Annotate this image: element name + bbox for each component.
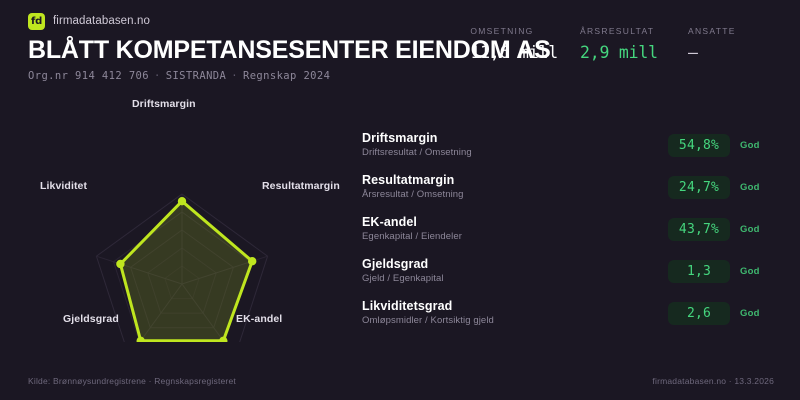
radar-point-driftsmargin bbox=[178, 197, 186, 205]
metric-text: EK-andel Egenkapital / Eiendeler bbox=[362, 215, 668, 243]
status-badge: God bbox=[740, 266, 774, 277]
metric-formula: Driftsresultat / Omsetning bbox=[362, 148, 668, 158]
company-period: Regnskap 2024 bbox=[243, 70, 330, 82]
metric-value-badge: 54,8% bbox=[668, 134, 730, 157]
footer-credit: firmadatabasen.no · 13.3.2026 bbox=[652, 376, 774, 386]
footer-source: Kilde: Brønnøysundregistrene · Regnskaps… bbox=[28, 376, 236, 386]
metric-value-badge: 43,7% bbox=[668, 218, 730, 241]
metric-value-badge: 24,7% bbox=[668, 176, 730, 199]
metric-right: 43,7% God bbox=[668, 218, 774, 241]
kpi-arsresultat-label: ÅRSRESULTAT bbox=[580, 26, 666, 36]
metric-text: Resultatmargin Årsresultat / Omsetning bbox=[362, 173, 668, 201]
company-orgnr: Org.nr 914 412 706 bbox=[28, 70, 149, 82]
kpi-ansatte: ANSATTE – bbox=[688, 26, 774, 62]
radar-point-resultatmargin bbox=[248, 257, 256, 265]
status-badge: God bbox=[740, 140, 774, 151]
radar-label-resultatmargin: Resultatmargin bbox=[262, 180, 340, 192]
brand-name: firmadatabasen.no bbox=[53, 15, 150, 27]
radar-label-likviditet: Likviditet bbox=[40, 180, 87, 192]
company-meta: Org.nr 914 412 706·SISTRANDA·Regnskap 20… bbox=[28, 70, 772, 82]
kpi-omsetning: OMSETNING 11,6 mill bbox=[470, 26, 558, 62]
page-footer: Kilde: Brønnøysundregistrene · Regnskaps… bbox=[28, 376, 774, 386]
kpi-ansatte-label: ANSATTE bbox=[688, 26, 774, 36]
status-badge: God bbox=[740, 182, 774, 193]
kpi-omsetning-value: 11,6 mill bbox=[470, 43, 558, 62]
metric-text: Likviditetsgrad Omløpsmidler / Kortsikti… bbox=[362, 299, 668, 327]
meta-separator-2: · bbox=[226, 70, 243, 82]
metric-row-driftsmargin: Driftsmargin Driftsresultat / Omsetning … bbox=[362, 128, 774, 162]
metric-right: 54,8% God bbox=[668, 134, 774, 157]
kpi-omsetning-label: OMSETNING bbox=[470, 26, 558, 36]
metric-name: Driftsmargin bbox=[362, 131, 668, 145]
metric-right: 2,6 God bbox=[668, 302, 774, 325]
radar-chart: Driftsmargin Resultatmargin EK-andel Gje… bbox=[0, 92, 352, 342]
company-place: SISTRANDA bbox=[166, 70, 227, 82]
kpi-strip: OMSETNING 11,6 mill ÅRSRESULTAT 2,9 mill… bbox=[470, 26, 774, 62]
radar-point-likviditet bbox=[116, 260, 124, 268]
metric-formula: Egenkapital / Eiendeler bbox=[362, 232, 668, 242]
metric-text: Gjeldsgrad Gjeld / Egenkapital bbox=[362, 257, 668, 285]
metric-name: EK-andel bbox=[362, 215, 668, 229]
metric-right: 24,7% God bbox=[668, 176, 774, 199]
metric-row-likviditetsgrad: Likviditetsgrad Omløpsmidler / Kortsikti… bbox=[362, 296, 774, 330]
metric-name: Resultatmargin bbox=[362, 173, 668, 187]
metric-row-resultatmargin: Resultatmargin Årsresultat / Omsetning 2… bbox=[362, 170, 774, 204]
status-badge: God bbox=[740, 224, 774, 235]
metric-value-badge: 1,3 bbox=[668, 260, 730, 283]
meta-separator-1: · bbox=[149, 70, 166, 82]
metric-formula: Årsresultat / Omsetning bbox=[362, 190, 668, 200]
metrics-list: Driftsmargin Driftsresultat / Omsetning … bbox=[362, 128, 774, 338]
metric-formula: Omløpsmidler / Kortsiktig gjeld bbox=[362, 316, 668, 326]
metric-row-ek-andel: EK-andel Egenkapital / Eiendeler 43,7% G… bbox=[362, 212, 774, 246]
status-badge: God bbox=[740, 308, 774, 319]
metric-name: Likviditetsgrad bbox=[362, 299, 668, 313]
kpi-ansatte-value: – bbox=[688, 43, 774, 62]
metric-formula: Gjeld / Egenkapital bbox=[362, 274, 668, 284]
firmadatabasen-logo-icon: fd bbox=[28, 13, 45, 30]
kpi-arsresultat-value: 2,9 mill bbox=[580, 43, 666, 62]
radar-label-driftsmargin: Driftsmargin bbox=[132, 98, 196, 110]
kpi-arsresultat: ÅRSRESULTAT 2,9 mill bbox=[580, 26, 666, 62]
metric-name: Gjeldsgrad bbox=[362, 257, 668, 271]
metric-row-gjeldsgrad: Gjeldsgrad Gjeld / Egenkapital 1,3 God bbox=[362, 254, 774, 288]
metric-right: 1,3 God bbox=[668, 260, 774, 283]
metric-text: Driftsmargin Driftsresultat / Omsetning bbox=[362, 131, 668, 159]
radar-label-ek-andel: EK-andel bbox=[236, 313, 282, 325]
radar-label-gjeldsgrad: Gjeldsgrad bbox=[63, 313, 119, 325]
radar-series-area bbox=[120, 201, 252, 341]
radar-chart-svg bbox=[0, 92, 352, 342]
metric-value-badge: 2,6 bbox=[668, 302, 730, 325]
